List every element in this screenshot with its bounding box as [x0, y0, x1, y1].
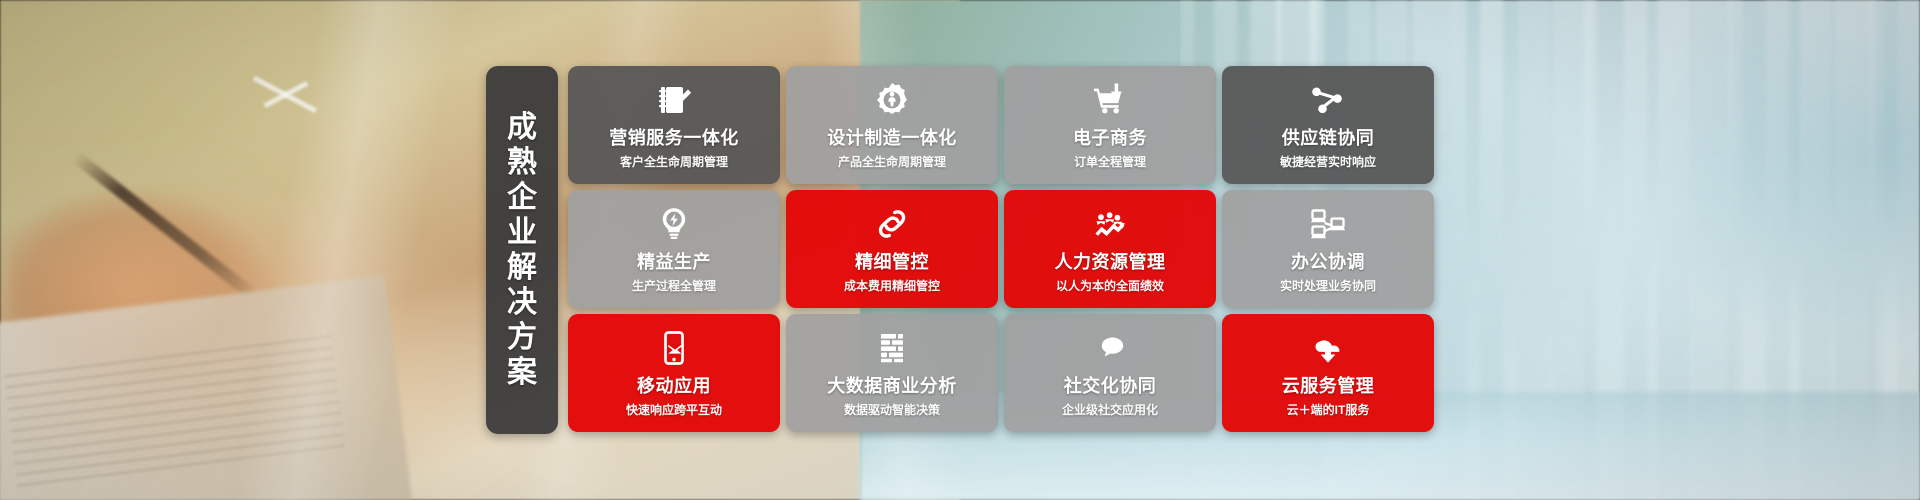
solution-card-4[interactable]: 供应链协同敏捷经营实时响应 [1222, 66, 1434, 184]
vertical-title-panel: 成熟企业解决方案 [486, 66, 558, 434]
solution-card-6[interactable]: 精细管控成本费用精细管控 [786, 190, 998, 308]
title-char-4: 解 [507, 253, 537, 283]
title-char-6: 方 [507, 323, 537, 353]
solution-card-11[interactable]: 社交化协同企业级社交应用化 [1004, 314, 1216, 432]
card-title: 营销服务一体化 [609, 124, 739, 150]
card-subtitle: 产品全生命周期管理 [838, 153, 946, 170]
card-subtitle: 快速响应跨平互动 [626, 401, 722, 418]
card-title: 供应链协同 [1282, 124, 1375, 150]
solution-card-8[interactable]: 办公协调实时处理业务协同 [1222, 190, 1434, 308]
solution-card-2[interactable]: 设计制造一体化产品全生命周期管理 [786, 66, 998, 184]
card-title: 精细管控 [855, 248, 929, 274]
card-subtitle: 数据驱动智能决策 [844, 401, 940, 418]
notebook-pencil-icon [654, 80, 694, 120]
banner-content: 成熟企业解决方案 营销服务一体化客户全生命周期管理设计制造一体化产品全生命周期管… [0, 0, 1920, 500]
card-title: 云服务管理 [1282, 372, 1375, 398]
data-server-icon [872, 328, 912, 368]
solution-card-grid: 营销服务一体化客户全生命周期管理设计制造一体化产品全生命周期管理电子商务订单全程… [568, 66, 1434, 432]
title-char-7: 案 [507, 358, 537, 388]
card-subtitle: 订单全程管理 [1074, 153, 1146, 170]
lightbulb-bolt-icon [654, 204, 694, 244]
card-title: 电子商务 [1073, 124, 1147, 150]
title-char-5: 决 [507, 288, 537, 318]
title-char-0: 成 [507, 113, 537, 143]
banner-stage: 成熟企业解决方案 营销服务一体化客户全生命周期管理设计制造一体化产品全生命周期管… [0, 0, 1920, 500]
gear-person-icon [872, 80, 912, 120]
card-subtitle: 以人为本的全面绩效 [1056, 277, 1164, 294]
card-title: 大数据商业分析 [827, 372, 957, 398]
card-title: 精益生产 [637, 248, 711, 274]
card-title: 社交化协同 [1064, 372, 1157, 398]
solution-card-1[interactable]: 营销服务一体化客户全生命周期管理 [568, 66, 780, 184]
card-subtitle: 企业级社交应用化 [1062, 401, 1158, 418]
shopping-cart-download-icon [1090, 80, 1130, 120]
card-subtitle: 实时处理业务协同 [1280, 277, 1376, 294]
solution-card-9[interactable]: 移动应用快速响应跨平互动 [568, 314, 780, 432]
card-subtitle: 云＋端的IT服务 [1287, 401, 1370, 418]
solution-card-10[interactable]: 大数据商业分析数据驱动智能决策 [786, 314, 998, 432]
card-subtitle: 成本费用精细管控 [844, 277, 940, 294]
title-char-2: 企 [507, 183, 537, 213]
card-subtitle: 客户全生命周期管理 [620, 153, 728, 170]
chain-link-icon [872, 204, 912, 244]
people-growth-arrow-icon [1090, 204, 1130, 244]
network-nodes-icon [1308, 80, 1348, 120]
card-subtitle: 敏捷经营实时响应 [1280, 153, 1376, 170]
solution-card-3[interactable]: 电子商务订单全程管理 [1004, 66, 1216, 184]
card-subtitle: 生产过程全管理 [632, 277, 716, 294]
solution-card-7[interactable]: 人力资源管理以人为本的全面绩效 [1004, 190, 1216, 308]
mobile-phone-icon [654, 328, 694, 368]
card-title: 人力资源管理 [1055, 248, 1166, 274]
title-char-3: 业 [507, 218, 537, 248]
cloud-download-icon [1308, 328, 1348, 368]
networked-computers-icon [1308, 204, 1348, 244]
title-char-1: 熟 [507, 148, 537, 178]
card-title: 设计制造一体化 [827, 124, 957, 150]
card-title: 移动应用 [637, 372, 711, 398]
card-title: 办公协调 [1291, 248, 1365, 274]
solution-card-12[interactable]: 云服务管理云＋端的IT服务 [1222, 314, 1434, 432]
solution-card-5[interactable]: 精益生产生产过程全管理 [568, 190, 780, 308]
chat-bubbles-icon [1090, 328, 1130, 368]
